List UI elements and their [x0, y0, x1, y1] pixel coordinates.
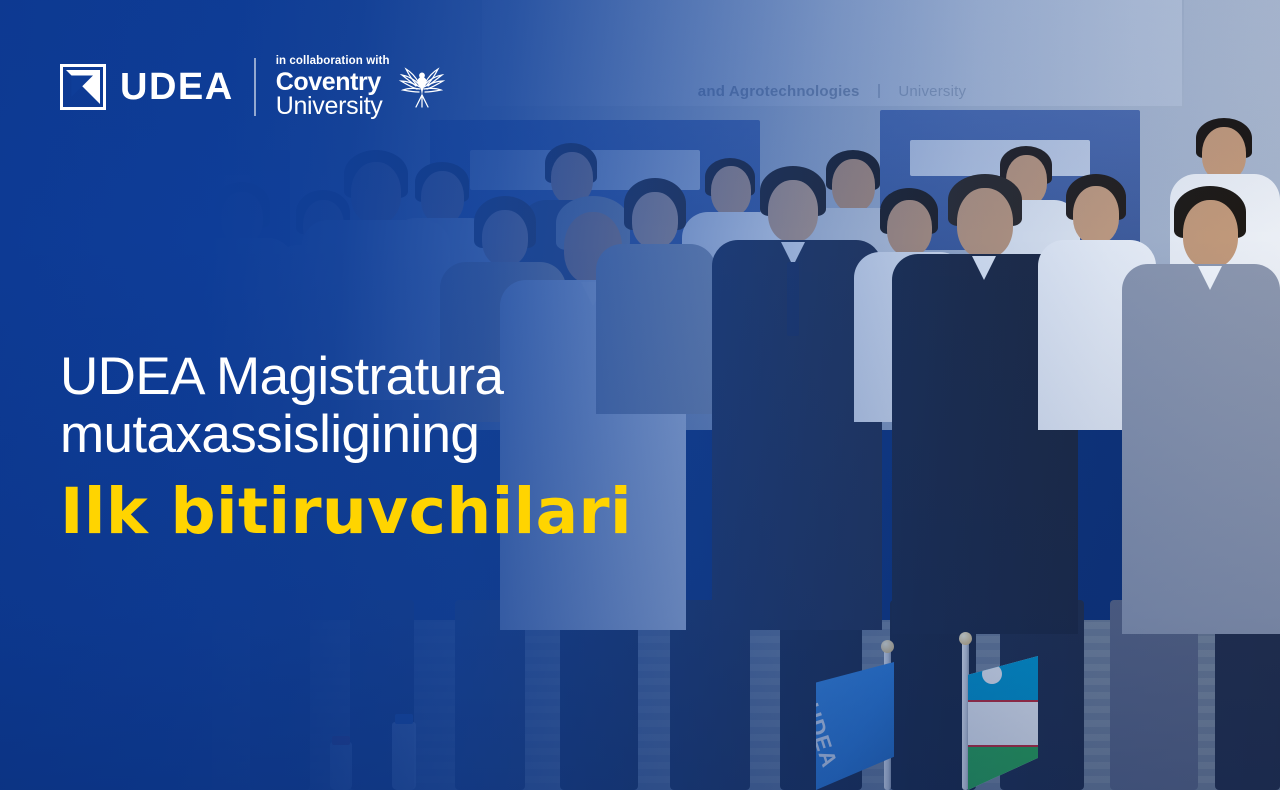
coventry-text-block: in collaboration with Coventry Universit… [276, 56, 390, 118]
coventry-phoenix-icon [398, 63, 446, 111]
logo-lockup: UDEA in collaboration with Coventry Univ… [60, 56, 446, 118]
headline-line-1: UDEA Magistratura [60, 348, 840, 406]
promotional-banner: and Agrotechnologies University [0, 0, 1280, 790]
coventry-partner-logo[interactable]: in collaboration with Coventry Universit… [276, 56, 446, 118]
udea-logo[interactable]: UDEA [60, 64, 234, 110]
udea-square-mark-icon [60, 64, 106, 110]
coventry-name: Coventry [276, 71, 390, 94]
headline-line-2: mutaxassisligining [60, 406, 840, 464]
headline-accent-line: Ilk bitiruvchilari [60, 479, 840, 545]
collaboration-label: in collaboration with [276, 56, 390, 68]
logo-divider [254, 58, 256, 116]
headline-block: UDEA Magistratura mutaxassisligining Ilk… [60, 348, 840, 544]
coventry-university-word: University [276, 94, 390, 118]
udea-wordmark: UDEA [120, 68, 234, 106]
